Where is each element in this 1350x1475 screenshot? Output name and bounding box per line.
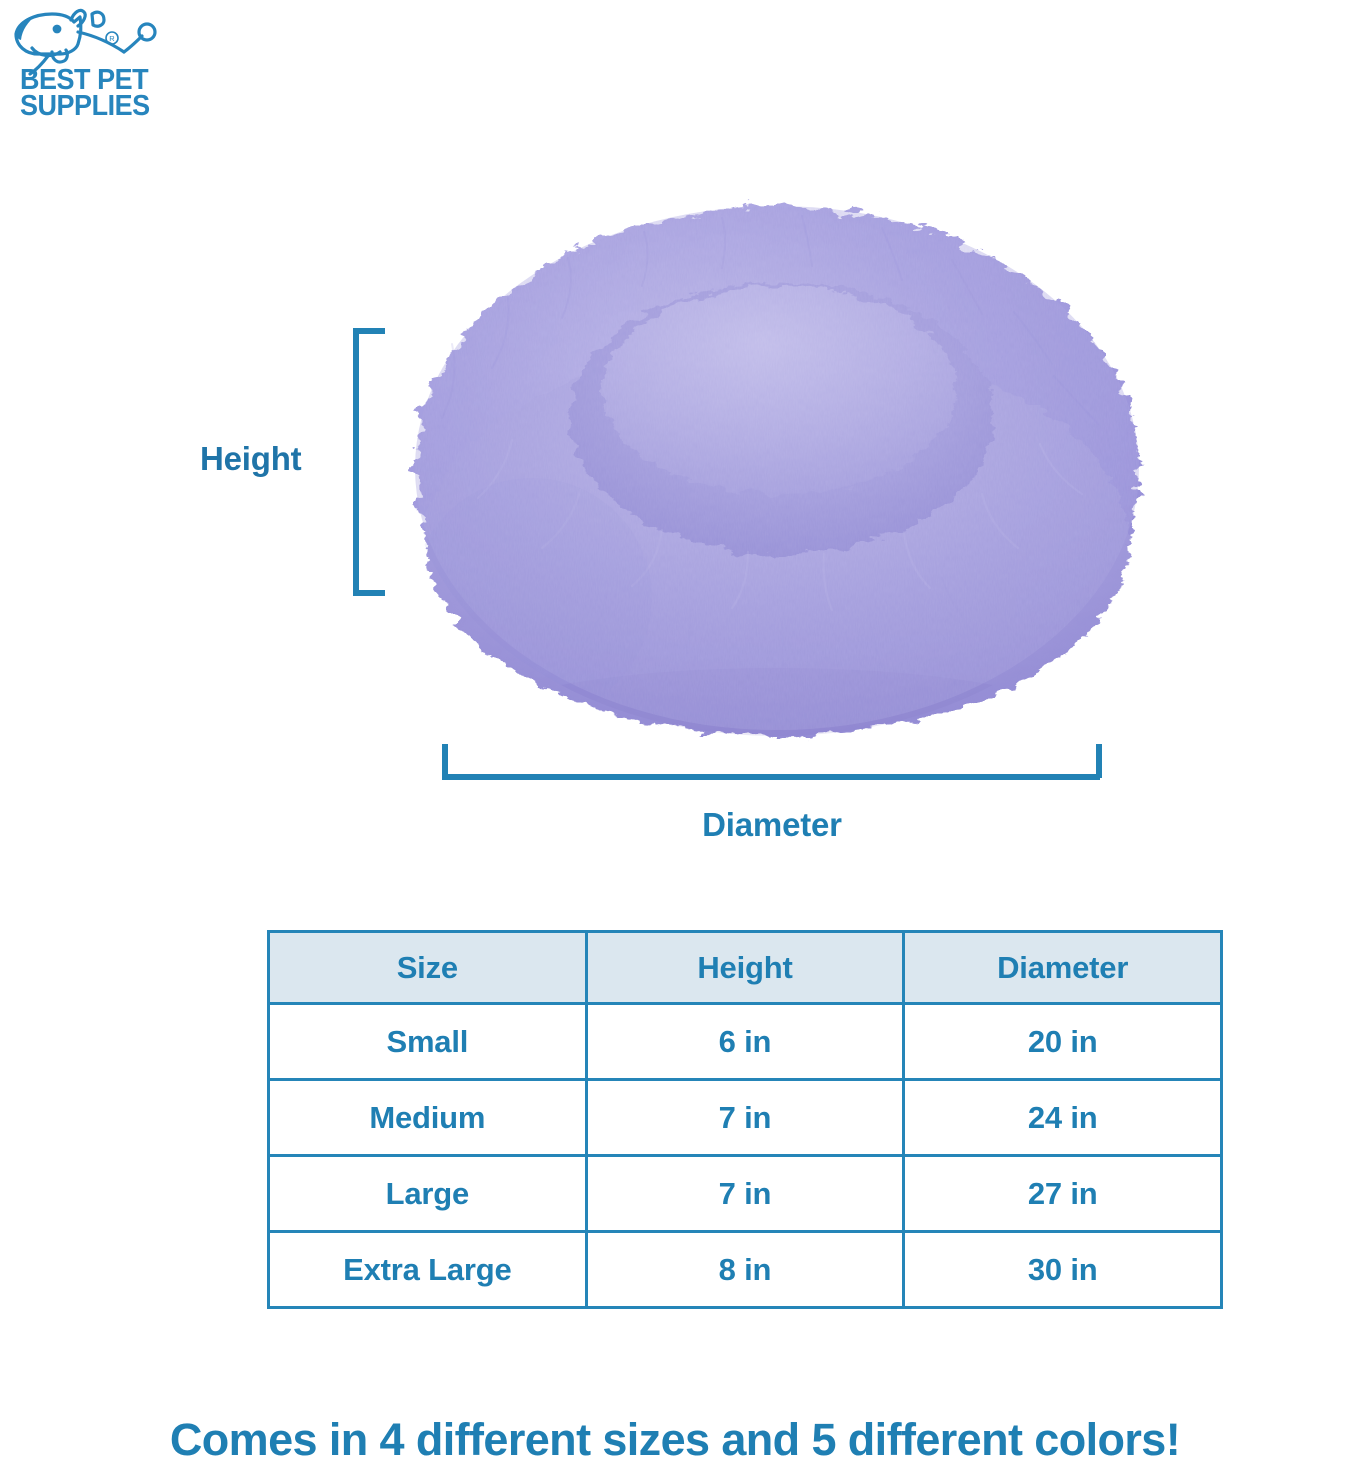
pet-bed-illustration <box>382 168 1172 748</box>
cell-diameter: 20 in <box>904 1004 1222 1080</box>
height-label: Height <box>200 440 340 478</box>
registered-mark: R <box>109 34 115 43</box>
cell-size: Medium <box>269 1080 587 1156</box>
table-row: Large 7 in 27 in <box>269 1156 1222 1232</box>
diameter-label: Diameter <box>430 806 1114 844</box>
cell-height: 8 in <box>586 1232 904 1308</box>
cell-diameter: 30 in <box>904 1232 1222 1308</box>
cell-diameter: 27 in <box>904 1156 1222 1232</box>
column-header-diameter: Diameter <box>904 932 1222 1004</box>
cell-height: 6 in <box>586 1004 904 1080</box>
cell-height: 7 in <box>586 1080 904 1156</box>
wordmark-line-2: SUPPLIES <box>20 94 158 120</box>
diameter-annotation: Diameter <box>430 744 1130 864</box>
cell-diameter: 24 in <box>904 1080 1222 1156</box>
footer-tagline: Comes in 4 different sizes and 5 differe… <box>0 1414 1350 1466</box>
column-header-size: Size <box>269 932 587 1004</box>
cell-size: Extra Large <box>269 1232 587 1308</box>
table-row: Medium 7 in 24 in <box>269 1080 1222 1156</box>
height-bracket-icon <box>353 328 387 596</box>
product-image-pet-bed <box>382 168 1172 748</box>
product-infographic: R BEST PET SUPPLIES <box>0 0 1350 1475</box>
column-header-height: Height <box>586 932 904 1004</box>
table-row: Small 6 in 20 in <box>269 1004 1222 1080</box>
table-row: Extra Large 8 in 30 in <box>269 1232 1222 1308</box>
cell-size: Small <box>269 1004 587 1080</box>
table-header-row: Size Height Diameter <box>269 932 1222 1004</box>
cell-size: Large <box>269 1156 587 1232</box>
diameter-bracket-icon <box>442 744 1102 780</box>
size-chart: Size Height Diameter Small 6 in 20 in Me… <box>267 930 1223 1306</box>
size-table: Size Height Diameter Small 6 in 20 in Me… <box>267 930 1223 1309</box>
brand-logo: R BEST PET SUPPLIES <box>8 4 168 129</box>
cell-height: 7 in <box>586 1156 904 1232</box>
brand-wordmark: BEST PET SUPPLIES <box>20 68 168 119</box>
height-annotation: Height <box>200 320 400 605</box>
